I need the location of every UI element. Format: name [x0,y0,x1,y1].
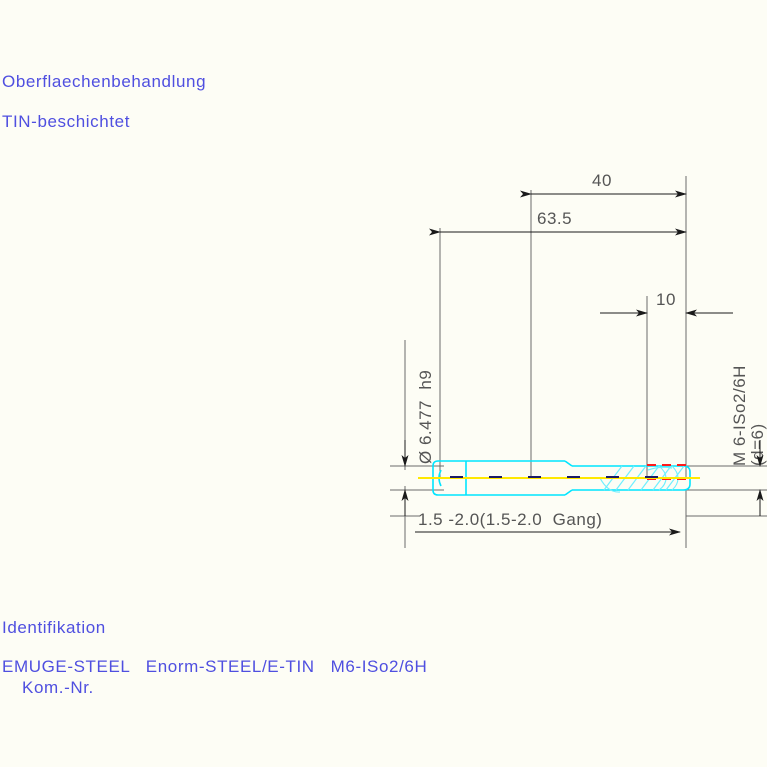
projection-lines [390,466,767,516]
drawing-canvas: Oberflaechenbehandlung TIN-beschichtet 4… [0,0,767,767]
technical-drawing-svg [0,0,767,767]
